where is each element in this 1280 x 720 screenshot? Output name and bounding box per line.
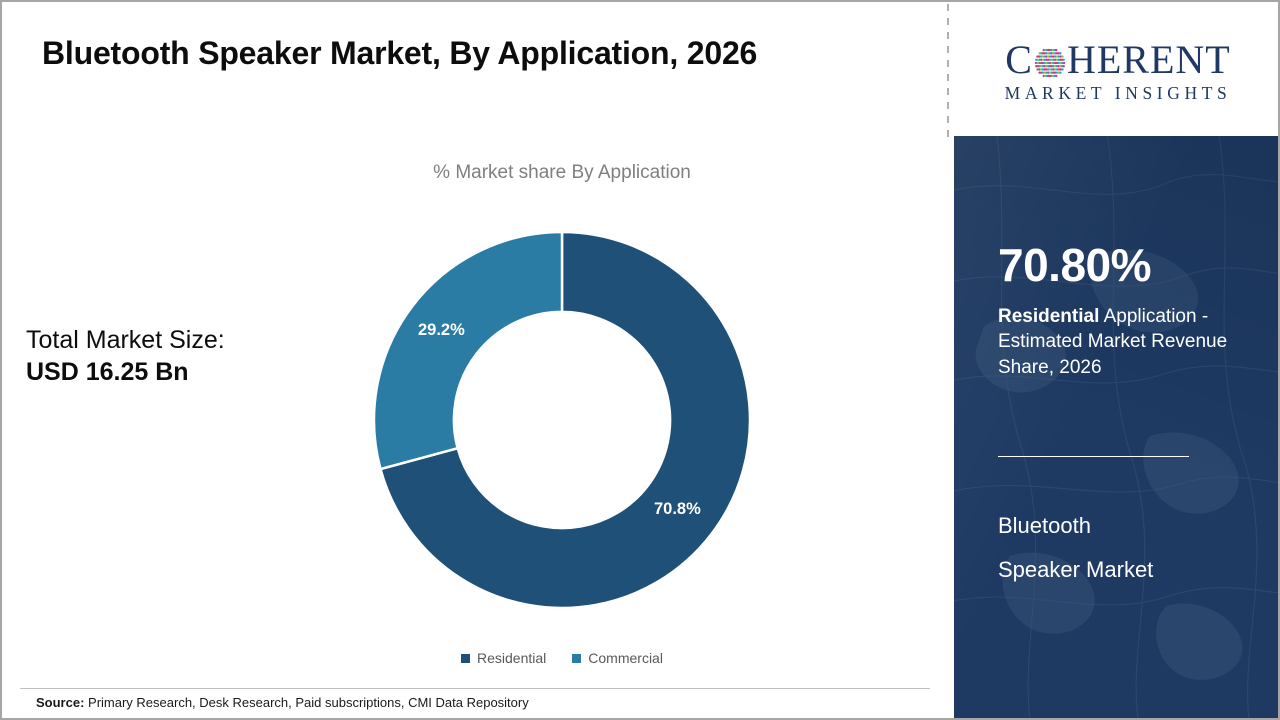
total-market-size-value: USD 16.25 Bn — [26, 356, 326, 388]
donut-chart: 29.2% 70.8% — [368, 226, 756, 614]
total-market-size-block: Total Market Size: USD 16.25 Bn — [26, 324, 326, 388]
dotted-globe-icon — [1034, 46, 1066, 78]
main-content-area: Bluetooth Speaker Market, By Application… — [2, 2, 948, 720]
legend-item-commercial[interactable]: Commercial — [572, 650, 663, 666]
source-line: Source: Primary Research, Desk Research,… — [36, 695, 529, 710]
source-label: Source: — [36, 695, 84, 710]
brand-wordmark: C HERENT — [1005, 40, 1230, 80]
world-map-texture-icon — [954, 136, 1280, 720]
chart-legend: Residential Commercial — [192, 650, 932, 666]
highlight-percent: 70.80% — [998, 242, 1151, 288]
legend-label-commercial: Commercial — [588, 650, 663, 666]
brand-logo: C HERENT MARKET INSIGHTS — [954, 2, 1280, 136]
panel-divider — [998, 456, 1189, 457]
source-text: Primary Research, Desk Research, Paid su… — [84, 695, 528, 710]
vertical-dashed-divider — [947, 4, 949, 137]
highlight-panel: 70.80% Residential Application - Estimat… — [954, 136, 1280, 720]
brand-tagline: MARKET INSIGHTS — [1005, 85, 1232, 103]
legend-swatch-icon — [572, 654, 581, 663]
panel-market-name: Bluetooth Speaker Market — [998, 504, 1268, 591]
panel-market-line2: Speaker Market — [998, 557, 1153, 582]
panel-market-line1: Bluetooth — [998, 513, 1091, 538]
right-rail: C HERENT MARKET INSIGHTS — [954, 2, 1280, 720]
slice-label-residential: 70.8% — [654, 500, 701, 519]
legend-swatch-icon — [461, 654, 470, 663]
donut-slice-commercial[interactable] — [374, 232, 562, 469]
donut-chart-svg — [368, 226, 756, 614]
infographic-root: Bluetooth Speaker Market, By Application… — [0, 0, 1280, 720]
brand-name-part1: C — [1005, 40, 1033, 80]
highlight-description: Residential Application - Estimated Mark… — [998, 304, 1258, 380]
slice-label-commercial: 29.2% — [418, 321, 465, 340]
chart-subtitle: % Market share By Application — [192, 162, 932, 184]
highlight-description-bold: Residential — [998, 306, 1099, 327]
footer-divider — [20, 688, 930, 689]
total-market-size-label: Total Market Size: — [26, 324, 326, 356]
page-title: Bluetooth Speaker Market, By Application… — [42, 35, 922, 72]
brand-name-part2: HERENT — [1067, 40, 1231, 80]
legend-item-residential[interactable]: Residential — [461, 650, 546, 666]
legend-label-residential: Residential — [477, 650, 546, 666]
